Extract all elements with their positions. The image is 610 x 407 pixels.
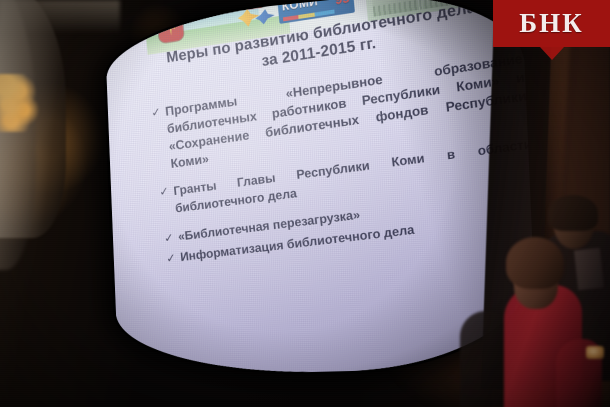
- bnk-watermark: БНК: [493, 0, 610, 47]
- checkmark-icon: ✓: [166, 251, 177, 266]
- komi-coat-of-arms-icon: [157, 11, 184, 43]
- slide-bullet-list: ✓ Программы «Непрерывное образование биб…: [151, 49, 538, 270]
- projection-screen: РЕСПУБЛИКА КОМИ 95 Меры по развитию: [100, 4, 520, 372]
- woman-hair: [506, 237, 564, 289]
- man-hair: [548, 195, 598, 231]
- bnk-watermark-label: БНК: [519, 10, 583, 37]
- checkmark-icon: ✓: [151, 105, 162, 120]
- photo-scene: РЕСПУБЛИКА КОМИ 95 Меры по развитию: [0, 0, 610, 407]
- checkmark-icon: ✓: [164, 231, 175, 246]
- golden-bird-icon: [163, 18, 178, 36]
- emblem-blue-shape: [255, 7, 276, 26]
- bnk-watermark-tail: [540, 47, 564, 60]
- checkmark-icon: ✓: [159, 184, 170, 199]
- man-shirt-collar: [574, 248, 604, 290]
- logo-anniversary: 95: [334, 0, 350, 6]
- chandelier-lights: [0, 74, 40, 132]
- emblem-yellow-shape: [237, 7, 260, 28]
- phone-screen-glow: [586, 346, 604, 359]
